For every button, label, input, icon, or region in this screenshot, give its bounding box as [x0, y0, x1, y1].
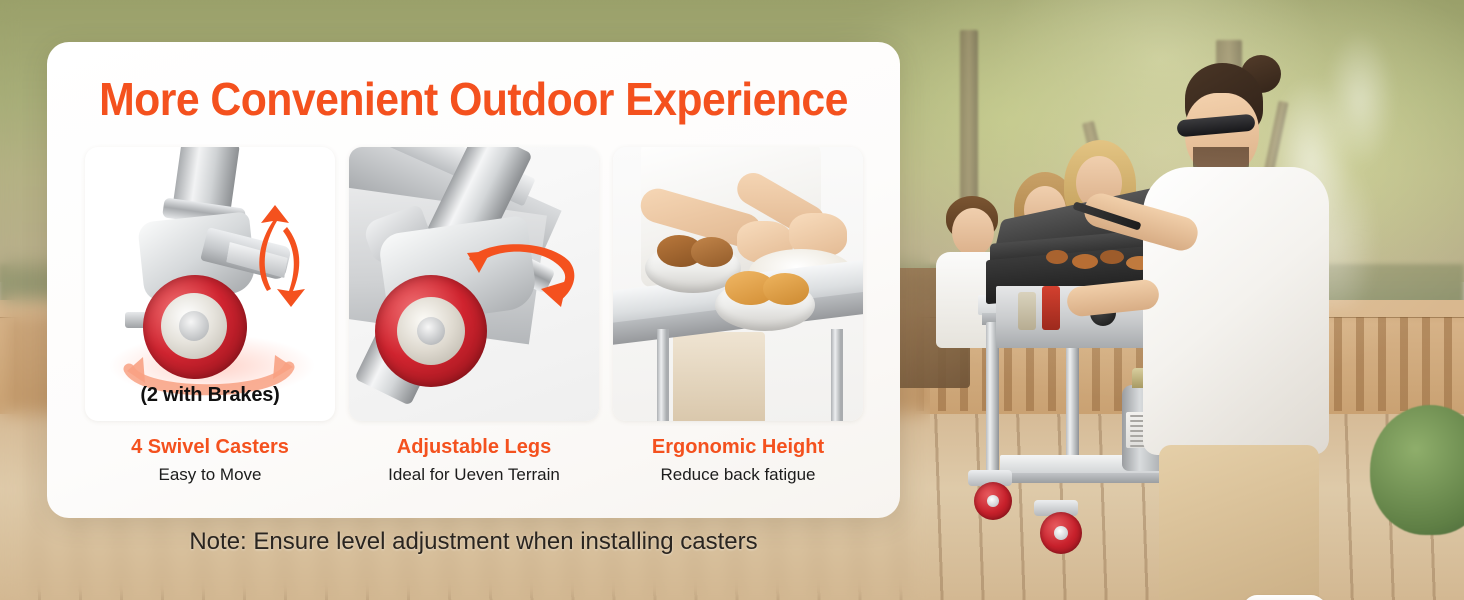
- caption-subtitle: Reduce back fatigue: [613, 464, 863, 486]
- caption-subtitle: Ideal for Ueven Terrain: [349, 464, 599, 486]
- face: [952, 208, 994, 256]
- lifestyle-scene: [900, 0, 1464, 600]
- caption-subtitle: Easy to Move: [85, 464, 335, 486]
- caster-wheel-hub: [179, 311, 209, 341]
- feature-card: More Convenient Outdoor Experience: [47, 42, 900, 518]
- caption-swivel-casters: 4 Swivel Casters Easy to Move: [85, 434, 335, 486]
- grilled-food: [1046, 250, 1068, 264]
- grilled-food: [1100, 250, 1124, 264]
- panel-adjustable-legs[interactable]: [349, 147, 599, 421]
- garden-bush: [1370, 405, 1464, 535]
- feature-panels: (2 with Brakes): [85, 147, 864, 425]
- up-down-arrow-icon: [253, 205, 319, 309]
- feature-captions: 4 Swivel Casters Easy to Move Adjustable…: [85, 434, 864, 486]
- caption-adjustable-legs: Adjustable Legs Ideal for Ueven Terrain: [349, 434, 599, 486]
- panel-swivel-casters[interactable]: (2 with Brakes): [85, 147, 335, 421]
- installation-note: Note: Ensure level adjustment when insta…: [47, 528, 900, 556]
- product-feature-banner: More Convenient Outdoor Experience: [0, 0, 1464, 600]
- caster-wheel-hub: [417, 317, 445, 345]
- pants: [1159, 445, 1319, 600]
- caster-hub: [987, 495, 999, 507]
- shoe: [1243, 595, 1327, 600]
- caption-ergonomic-height: Ergonomic Height Reduce back fatigue: [613, 434, 863, 486]
- table-leg: [831, 329, 843, 421]
- caption-title: 4 Swivel Casters: [85, 434, 335, 460]
- table-leg: [657, 329, 669, 421]
- grilled-food: [1072, 254, 1098, 269]
- croissant: [763, 273, 809, 305]
- caption-title: Ergonomic Height: [613, 434, 863, 460]
- apron: [673, 332, 765, 421]
- caption-title: Adjustable Legs: [349, 434, 599, 460]
- bread-roll: [691, 237, 733, 267]
- person-grilling: [1125, 55, 1365, 600]
- circular-rotation-arrow-icon: [457, 229, 585, 325]
- spice-bottle: [1018, 292, 1036, 330]
- tshirt: [1143, 167, 1329, 455]
- spice-bottle: [1042, 286, 1060, 330]
- card-title: More Convenient Outdoor Experience: [77, 72, 870, 126]
- panel-ergonomic-height[interactable]: [613, 147, 863, 421]
- caster-hub: [1054, 526, 1068, 540]
- panel-badge-brakes: (2 with Brakes): [85, 384, 335, 407]
